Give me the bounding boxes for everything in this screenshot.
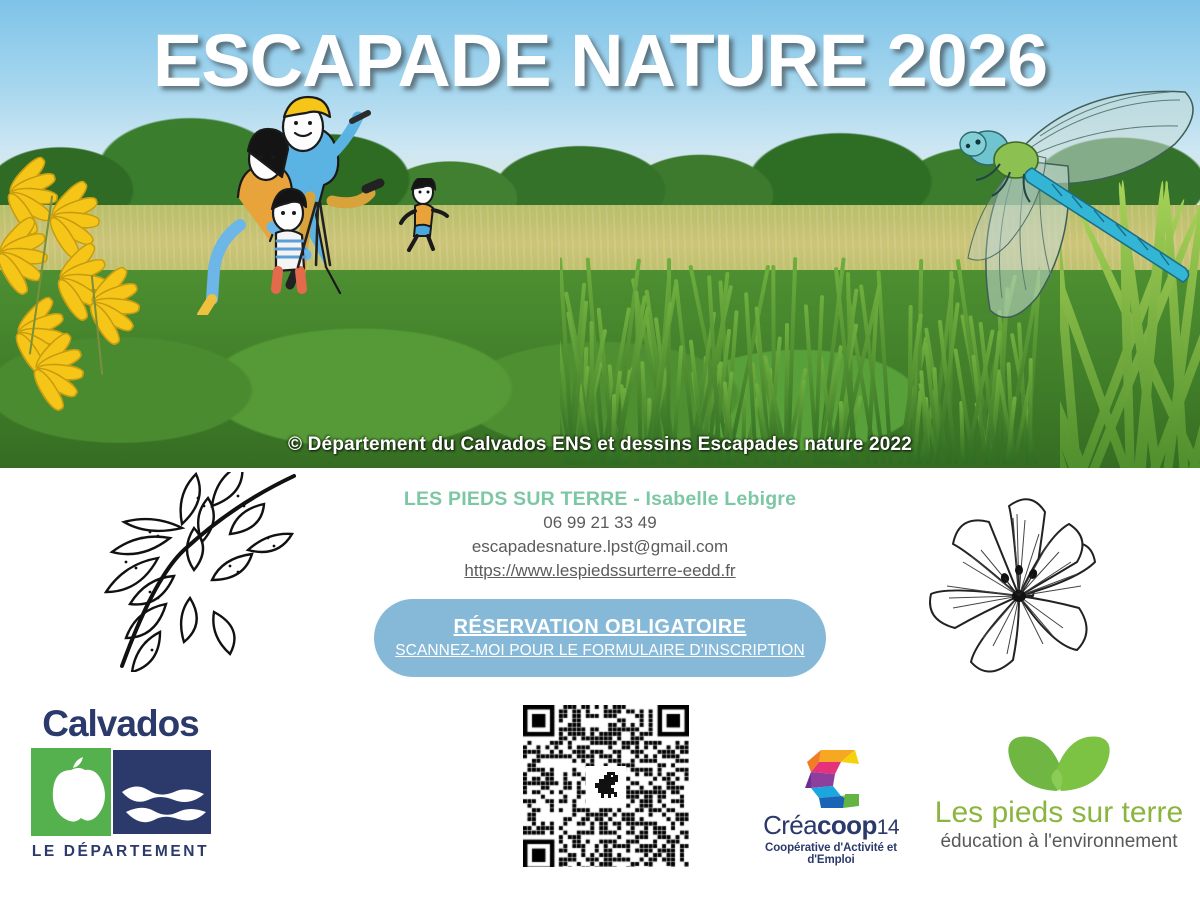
apple-icon [53,768,105,822]
cta-title: RÉSERVATION OBLIGATOIRE [454,616,747,642]
creacoop-subtitle: Coopérative d'Activité et d'Emploi [742,842,920,866]
hero-image: ESCAPADE NATURE 2026 © Département du Ca… [0,0,1200,468]
poster: ESCAPADE NATURE 2026 © Département du Ca… [0,0,1200,900]
running-child-illustration [395,178,455,253]
waves-icon [122,786,204,802]
qr-code[interactable] [523,705,689,867]
dinosaur-icon [586,766,626,806]
family-illustration [120,85,440,315]
creacoop-bold: coop [817,810,877,840]
image-credit: © Département du Calvados ENS et dessins… [0,434,1200,456]
lpst-wordmark: Les pieds sur terre [928,797,1190,829]
calvados-wordmark: Calvados [18,705,223,742]
creacoop-prefix: Créa [763,810,817,840]
two-leaves-icon [999,733,1119,795]
lespiedssurterre-logo: Les pieds sur terre éducation à l'enviro… [928,733,1190,868]
creacoop-number: 14 [877,816,899,839]
cta-subtitle: SCANNEZ-MOI POUR LE FORMULAIRE D'INSCRIP… [395,642,805,660]
page-title: ESCAPADE NATURE 2026 [0,24,1200,98]
phone-number: 06 99 21 33 49 [300,511,900,535]
website-link[interactable]: https://www.lespiedssurterre-eedd.fr [464,559,735,583]
reservation-cta-button[interactable]: RÉSERVATION OBLIGATOIRE SCANNEZ-MOI POUR… [374,599,826,677]
calvados-logo: Calvados LE DÉPARTEMENT [18,705,223,873]
contact-block: LES PIEDS SUR TERRE - Isabelle Lebigre 0… [300,487,900,583]
calvados-subtitle: LE DÉPARTEMENT [18,843,223,861]
organisation-name: LES PIEDS SUR TERRE - Isabelle Lebigre [300,487,900,511]
creacoop-wordmark: Créacoop14 [742,812,920,838]
leafy-branch-icon [62,472,297,672]
flower-line-icon [915,478,1120,673]
faceted-c-icon [785,748,877,810]
dragonfly-illustration [880,60,1200,410]
email-address[interactable]: escapadesnature.lpst@gmail.com [300,535,900,559]
creacoop-logo: Créacoop14 Coopérative d'Activité et d'E… [742,748,920,868]
calvados-emblem [18,748,218,836]
lpst-subtitle: éducation à l'environnement [928,831,1190,853]
